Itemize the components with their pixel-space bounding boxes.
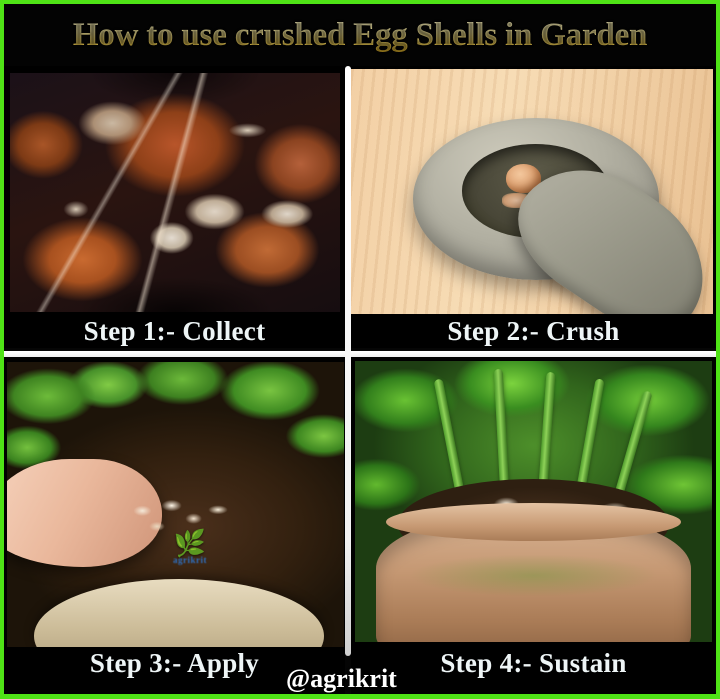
step-panel-1: Step 1:- Collect (4, 66, 345, 348)
cracked-eggshells-image (10, 73, 340, 312)
vertical-divider (345, 66, 351, 656)
step-4-caption: Step 4:- Sustain (351, 648, 716, 679)
eggshell-infographic-poster: How to use crushed Egg Shells in Garden … (0, 0, 720, 699)
step-panel-2: Step 2:- Crush (351, 66, 716, 348)
step-1-caption: Step 1:- Collect (4, 316, 345, 347)
horizontal-divider (4, 351, 716, 357)
step-panel-3: 🌿 agrikrit Step 3:- Apply (4, 354, 345, 694)
steps-grid: Step 1:- Collect Step 2:- Crush (4, 66, 716, 694)
pot-rim (386, 503, 681, 541)
leaf-logo-icon: 🌿 (162, 533, 218, 555)
watermark-handle: @agrikrit (286, 664, 397, 694)
step-panel-4: Step 4:- Sustain (351, 354, 716, 694)
step-2-photo-crush (351, 69, 713, 314)
inline-brand-logo: 🌿 agrikrit (162, 533, 218, 581)
step-4-photo-sustain (355, 361, 712, 642)
step-2-caption: Step 2:- Crush (351, 316, 716, 347)
pot-moss-patch (408, 554, 659, 598)
logo-wordmark: agrikrit (162, 555, 218, 565)
poster-title-bar: How to use crushed Egg Shells in Garden (4, 4, 716, 66)
mortar-and-pestle-image (351, 69, 713, 314)
hand-applying-shells-image: 🌿 agrikrit (7, 362, 344, 647)
step-1-photo-collect (10, 73, 340, 312)
page-title: How to use crushed Egg Shells in Garden (73, 17, 647, 54)
terracotta-pot (376, 513, 690, 642)
step-3-photo-apply: 🌿 agrikrit (7, 362, 344, 647)
potted-plant-with-mulch-image (355, 361, 712, 642)
